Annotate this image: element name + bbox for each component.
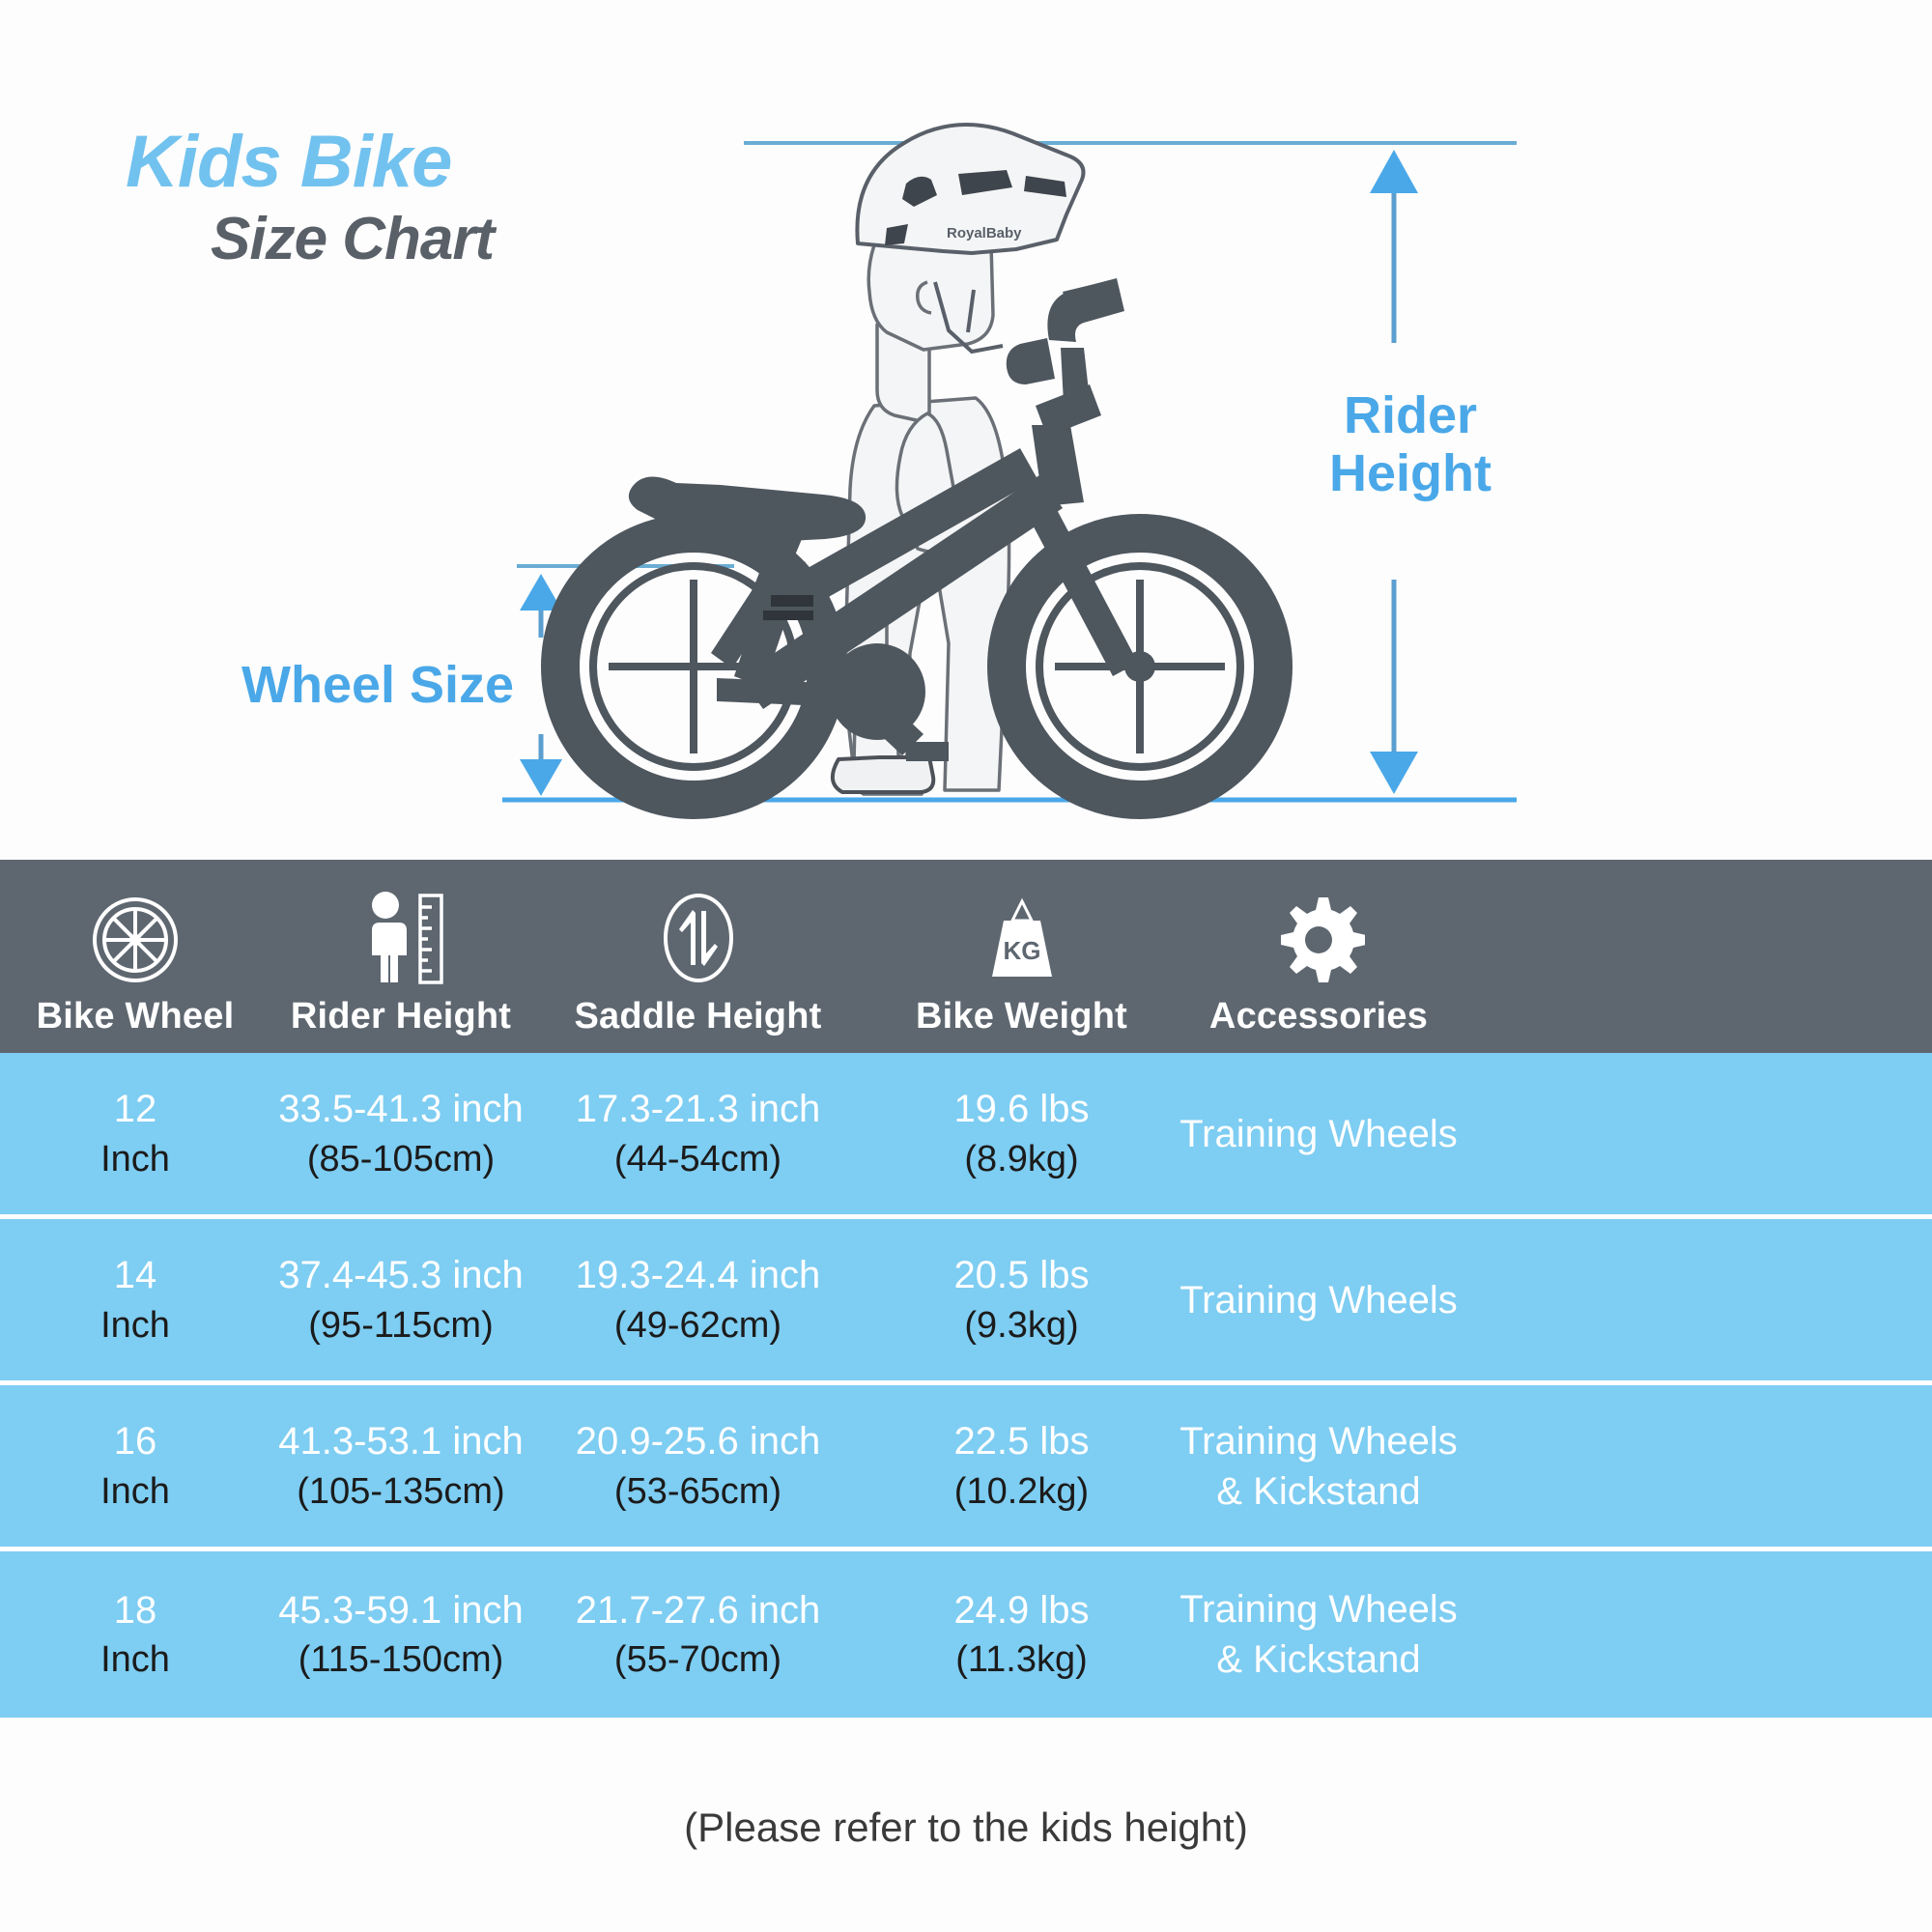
table-row: 14 Inch 37.4-45.3 inch (95-115cm) 19.3-2…: [0, 1219, 1932, 1385]
cell-rider-height: 37.4-45.3 inch (95-115cm): [270, 1219, 531, 1380]
cell-saddle-height: 21.7-27.6 inch (55-70cm): [531, 1551, 865, 1718]
rider-height-inch: 33.5-41.3 inch: [278, 1084, 524, 1135]
accessories-line1: Training Wheels: [1179, 1416, 1458, 1466]
column-header-label: Bike Weight: [916, 996, 1127, 1037]
rider-height-inch: 45.3-59.1 inch: [278, 1585, 524, 1636]
weight-kg: (11.3kg): [955, 1635, 1088, 1684]
wheel-unit: Inch: [100, 1635, 170, 1684]
saddle-height-icon: [652, 886, 745, 986]
rider-height-inch: 41.3-53.1 inch: [278, 1416, 524, 1467]
weight-lbs: 24.9 lbs: [953, 1585, 1089, 1636]
column-header-bike-weight: KG Bike Weight: [865, 860, 1179, 1053]
table-row: 18 Inch 45.3-59.1 inch (115-150cm) 21.7-…: [0, 1551, 1932, 1718]
wheel-unit: Inch: [100, 1301, 170, 1350]
cell-saddle-height: 20.9-25.6 inch (53-65cm): [531, 1385, 865, 1547]
size-chart-table: Bike Wheel: [0, 860, 1932, 1718]
column-header-label: Saddle Height: [575, 996, 822, 1037]
footer-note: (Please refer to the kids height): [0, 1804, 1932, 1851]
saddle-height-inch: 19.3-24.4 inch: [576, 1250, 821, 1301]
weight-lbs: 19.6 lbs: [953, 1084, 1089, 1135]
accessories-line1: Training Wheels: [1179, 1109, 1458, 1159]
accessories-line1: Training Wheels: [1179, 1275, 1458, 1325]
cell-bike-weight: 19.6 lbs (8.9kg): [865, 1053, 1179, 1214]
column-header-rider-height: Rider Height: [270, 860, 531, 1053]
saddle-height-cm: (53-65cm): [614, 1467, 781, 1516]
wheel-value: 14: [114, 1250, 157, 1301]
table-row: 12 Inch 33.5-41.3 inch (85-105cm) 17.3-2…: [0, 1053, 1932, 1219]
weight-kg: (8.9kg): [964, 1135, 1078, 1183]
wheel-unit: Inch: [100, 1467, 170, 1516]
cell-rider-height: 45.3-59.1 inch (115-150cm): [270, 1551, 531, 1718]
saddle-height-inch: 17.3-21.3 inch: [576, 1084, 821, 1135]
cell-saddle-height: 17.3-21.3 inch (44-54cm): [531, 1053, 865, 1214]
cell-bike-weight: 24.9 lbs (11.3kg): [865, 1551, 1179, 1718]
rider-height-illustration-label: Rider Height: [1299, 386, 1521, 503]
rider-height-cm: (95-115cm): [308, 1301, 493, 1350]
saddle-height-inch: 21.7-27.6 inch: [576, 1585, 821, 1636]
cell-rider-height: 33.5-41.3 inch (85-105cm): [270, 1053, 531, 1214]
cell-bike-wheel: 14 Inch: [0, 1219, 270, 1380]
cell-rider-height: 41.3-53.1 inch (105-135cm): [270, 1385, 531, 1547]
cell-bike-wheel: 12 Inch: [0, 1053, 270, 1214]
accessories-gear-icon: [1272, 886, 1365, 986]
table-header-row: Bike Wheel: [0, 860, 1932, 1053]
cell-bike-weight: 20.5 lbs (9.3kg): [865, 1219, 1179, 1380]
svg-text:KG: KG: [1003, 936, 1040, 965]
accessories-line1: Training Wheels: [1179, 1584, 1458, 1634]
column-header-accessories: Accessories: [1179, 860, 1459, 1053]
rider-height-cm: (115-150cm): [298, 1635, 504, 1684]
column-header-bike-wheel: Bike Wheel: [0, 860, 270, 1053]
accessories-line2: & Kickstand: [1216, 1634, 1420, 1685]
rider-height-label-line1: Rider: [1299, 386, 1521, 444]
saddle-height-cm: (55-70cm): [614, 1635, 781, 1684]
column-header-label: Accessories: [1209, 996, 1428, 1037]
bike-wheel-icon: [89, 886, 182, 986]
saddle-height-cm: (44-54cm): [614, 1135, 781, 1183]
rider-height-cm: (105-135cm): [297, 1467, 504, 1516]
wheel-value: 16: [114, 1416, 157, 1467]
cell-bike-wheel: 18 Inch: [0, 1551, 270, 1718]
table-row: 16 Inch 41.3-53.1 inch (105-135cm) 20.9-…: [0, 1385, 1932, 1551]
cell-bike-wheel: 16 Inch: [0, 1385, 270, 1547]
rider-height-inch: 37.4-45.3 inch: [278, 1250, 524, 1301]
cell-accessories: Training Wheels: [1179, 1219, 1459, 1380]
wheel-value: 12: [114, 1084, 157, 1135]
cell-bike-weight: 22.5 lbs (10.2kg): [865, 1385, 1179, 1547]
bike-weight-icon: KG: [975, 886, 1069, 986]
weight-lbs: 22.5 lbs: [953, 1416, 1089, 1467]
accessories-line2: & Kickstand: [1216, 1466, 1420, 1517]
child-shoe: [833, 757, 933, 792]
weight-lbs: 20.5 lbs: [953, 1250, 1089, 1301]
rider-height-icon: [351, 886, 451, 986]
helmet-brand-text: RoyalBaby: [947, 225, 1022, 241]
column-header-label: Rider Height: [291, 996, 511, 1037]
rider-height-label-line2: Height: [1299, 444, 1521, 502]
saddle-height-inch: 20.9-25.6 inch: [576, 1416, 821, 1467]
cell-accessories: Training Wheels & Kickstand: [1179, 1385, 1459, 1547]
weight-kg: (9.3kg): [964, 1301, 1078, 1350]
wheel-size-illustration-label: Wheel Size: [241, 657, 514, 714]
wheel-value: 18: [114, 1585, 157, 1636]
column-header-label: Bike Wheel: [37, 996, 235, 1037]
weight-kg: (10.2kg): [954, 1467, 1089, 1516]
column-header-saddle-height: Saddle Height: [531, 860, 865, 1053]
saddle-height-cm: (49-62cm): [614, 1301, 781, 1350]
cell-accessories: Training Wheels & Kickstand: [1179, 1551, 1459, 1718]
cell-saddle-height: 19.3-24.4 inch (49-62cm): [531, 1219, 865, 1380]
cell-accessories: Training Wheels: [1179, 1053, 1459, 1214]
bike-rider-illustration: RoyalBaby: [0, 0, 1932, 840]
wheel-unit: Inch: [100, 1135, 170, 1183]
rider-height-cm: (85-105cm): [307, 1135, 495, 1183]
